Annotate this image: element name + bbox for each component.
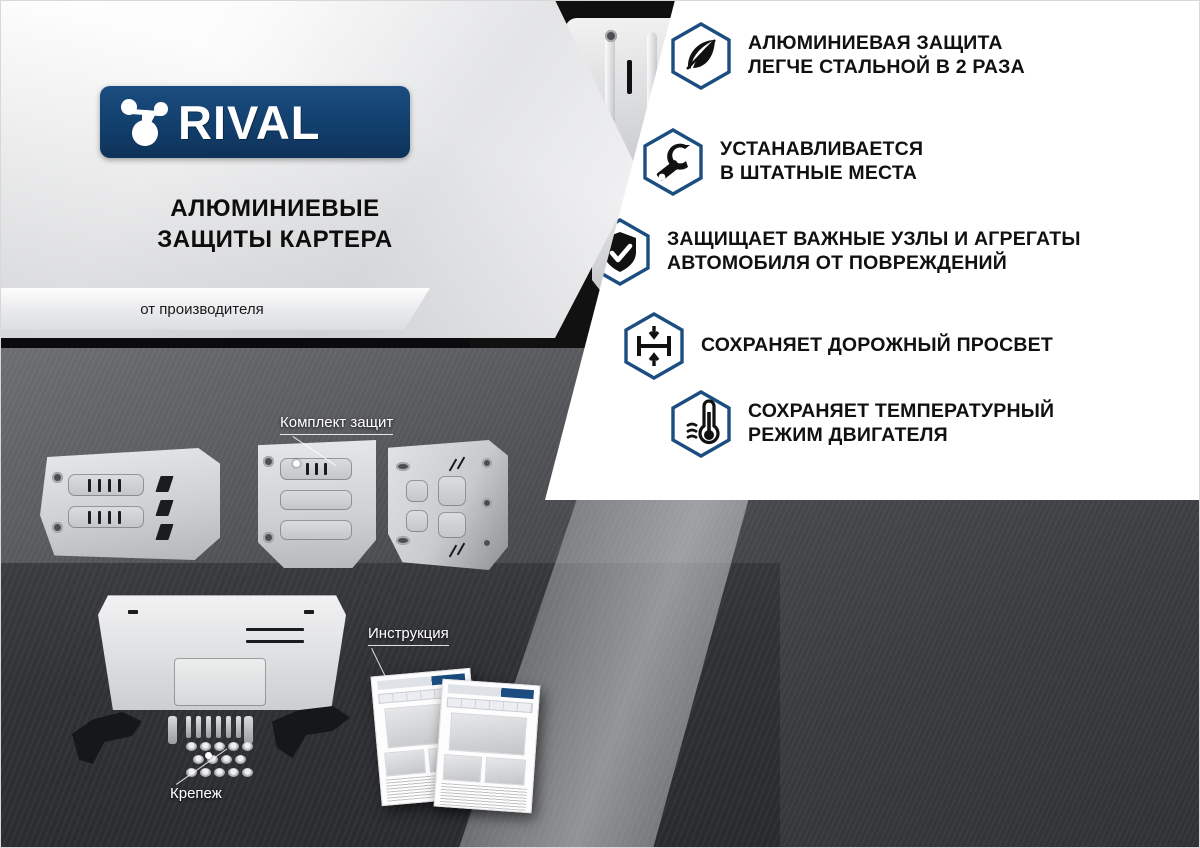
feature-text-1: УСТАНАВЛИВАЕТСЯ В ШТАТНЫЕ МЕСТА — [720, 138, 923, 186]
callout-kit-label: Комплект защит — [280, 414, 393, 431]
instruction-sheet-2 — [434, 679, 541, 814]
callout-fasteners: Крепеж — [170, 785, 222, 802]
ground-clearance-icon — [623, 312, 685, 380]
feature-2-line1: ЗАЩИЩАЕТ ВАЖНЫЕ УЗЛЫ И АГРЕГАТЫ — [667, 228, 1081, 252]
feature-1-line2: В ШТАТНЫЕ МЕСТА — [720, 162, 923, 186]
callout-kit: Комплект защит — [280, 414, 393, 435]
poster: RIVAL АЛЮМИНИЕВЫЕ ЗАЩИТЫ КАРТЕРА от прои… — [0, 0, 1200, 848]
skid-plate-sample-2 — [258, 440, 376, 568]
feature-item-3: СОХРАНЯЕТ ДОРОЖНЫЙ ПРОСВЕТ — [623, 312, 1163, 380]
callout-manual-label: Инструкция — [368, 625, 449, 642]
feature-text-4: СОХРАНЯЕТ ТЕМПЕРАТУРНЫЙ РЕЖИМ ДВИГАТЕЛЯ — [748, 400, 1054, 448]
feature-item-0: АЛЮМИНИЕВАЯ ЗАЩИТА ЛЕГЧЕ СТАЛЬНОЙ В 2 РА… — [670, 22, 1170, 90]
subtitle-bar: от производителя — [0, 288, 430, 330]
rival-logo: RIVAL — [100, 86, 410, 158]
subtitle-text: от производителя — [140, 301, 289, 318]
page-title: АЛЮМИНИЕВЫЕ ЗАЩИТЫ КАРТЕРА — [60, 193, 490, 255]
feature-2-line2: АВТОМОБИЛЯ ОТ ПОВРЕЖДЕНИЙ — [667, 252, 1081, 276]
feature-4-line2: РЕЖИМ ДВИГАТЕЛЯ — [748, 424, 1054, 448]
skid-plate-sample-large — [98, 588, 346, 710]
feature-text-0: АЛЮМИНИЕВАЯ ЗАЩИТА ЛЕГЧЕ СТАЛЬНОЙ В 2 РА… — [748, 32, 1025, 80]
feature-0-line2: ЛЕГЧЕ СТАЛЬНОЙ В 2 РАЗА — [748, 56, 1025, 80]
headline-line-2: ЗАЩИТЫ КАРТЕРА — [60, 224, 490, 255]
wrench-icon — [642, 128, 704, 196]
feature-3-line1: СОХРАНЯЕТ ДОРОЖНЫЙ ПРОСВЕТ — [701, 334, 1053, 358]
feature-0-line1: АЛЮМИНИЕВАЯ ЗАЩИТА — [748, 32, 1025, 56]
feature-item-1: УСТАНАВЛИВАЕТСЯ В ШТАТНЫЕ МЕСТА — [642, 128, 1142, 196]
callout-kit-dot — [293, 460, 300, 467]
leaf-icon — [670, 22, 732, 90]
feature-item-2: ЗАЩИЩАЕТ ВАЖНЫЕ УЗЛЫ И АГРЕГАТЫ АВТОМОБИ… — [589, 218, 1169, 286]
logo-wordmark: RIVAL — [178, 99, 321, 146]
thermometer-icon — [670, 390, 732, 458]
skid-plate-sample-3 — [388, 440, 508, 570]
feature-item-4: СОХРАНЯЕТ ТЕМПЕРАТУРНЫЙ РЕЖИМ ДВИГАТЕЛЯ — [670, 390, 1170, 458]
molecule-icon — [114, 94, 176, 150]
skid-plate-sample-1 — [40, 448, 220, 560]
callout-manual: Инструкция — [368, 625, 449, 646]
callout-fasteners-dot — [205, 752, 212, 759]
feature-text-2: ЗАЩИЩАЕТ ВАЖНЫЕ УЗЛЫ И АГРЕГАТЫ АВТОМОБИ… — [667, 228, 1081, 276]
feature-1-line1: УСТАНАВЛИВАЕТСЯ — [720, 138, 923, 162]
feature-text-3: СОХРАНЯЕТ ДОРОЖНЫЙ ПРОСВЕТ — [701, 334, 1053, 358]
callout-fasteners-label: Крепеж — [170, 785, 222, 802]
headline-line-1: АЛЮМИНИЕВЫЕ — [60, 193, 490, 224]
feature-4-line1: СОХРАНЯЕТ ТЕМПЕРАТУРНЫЙ — [748, 400, 1054, 424]
